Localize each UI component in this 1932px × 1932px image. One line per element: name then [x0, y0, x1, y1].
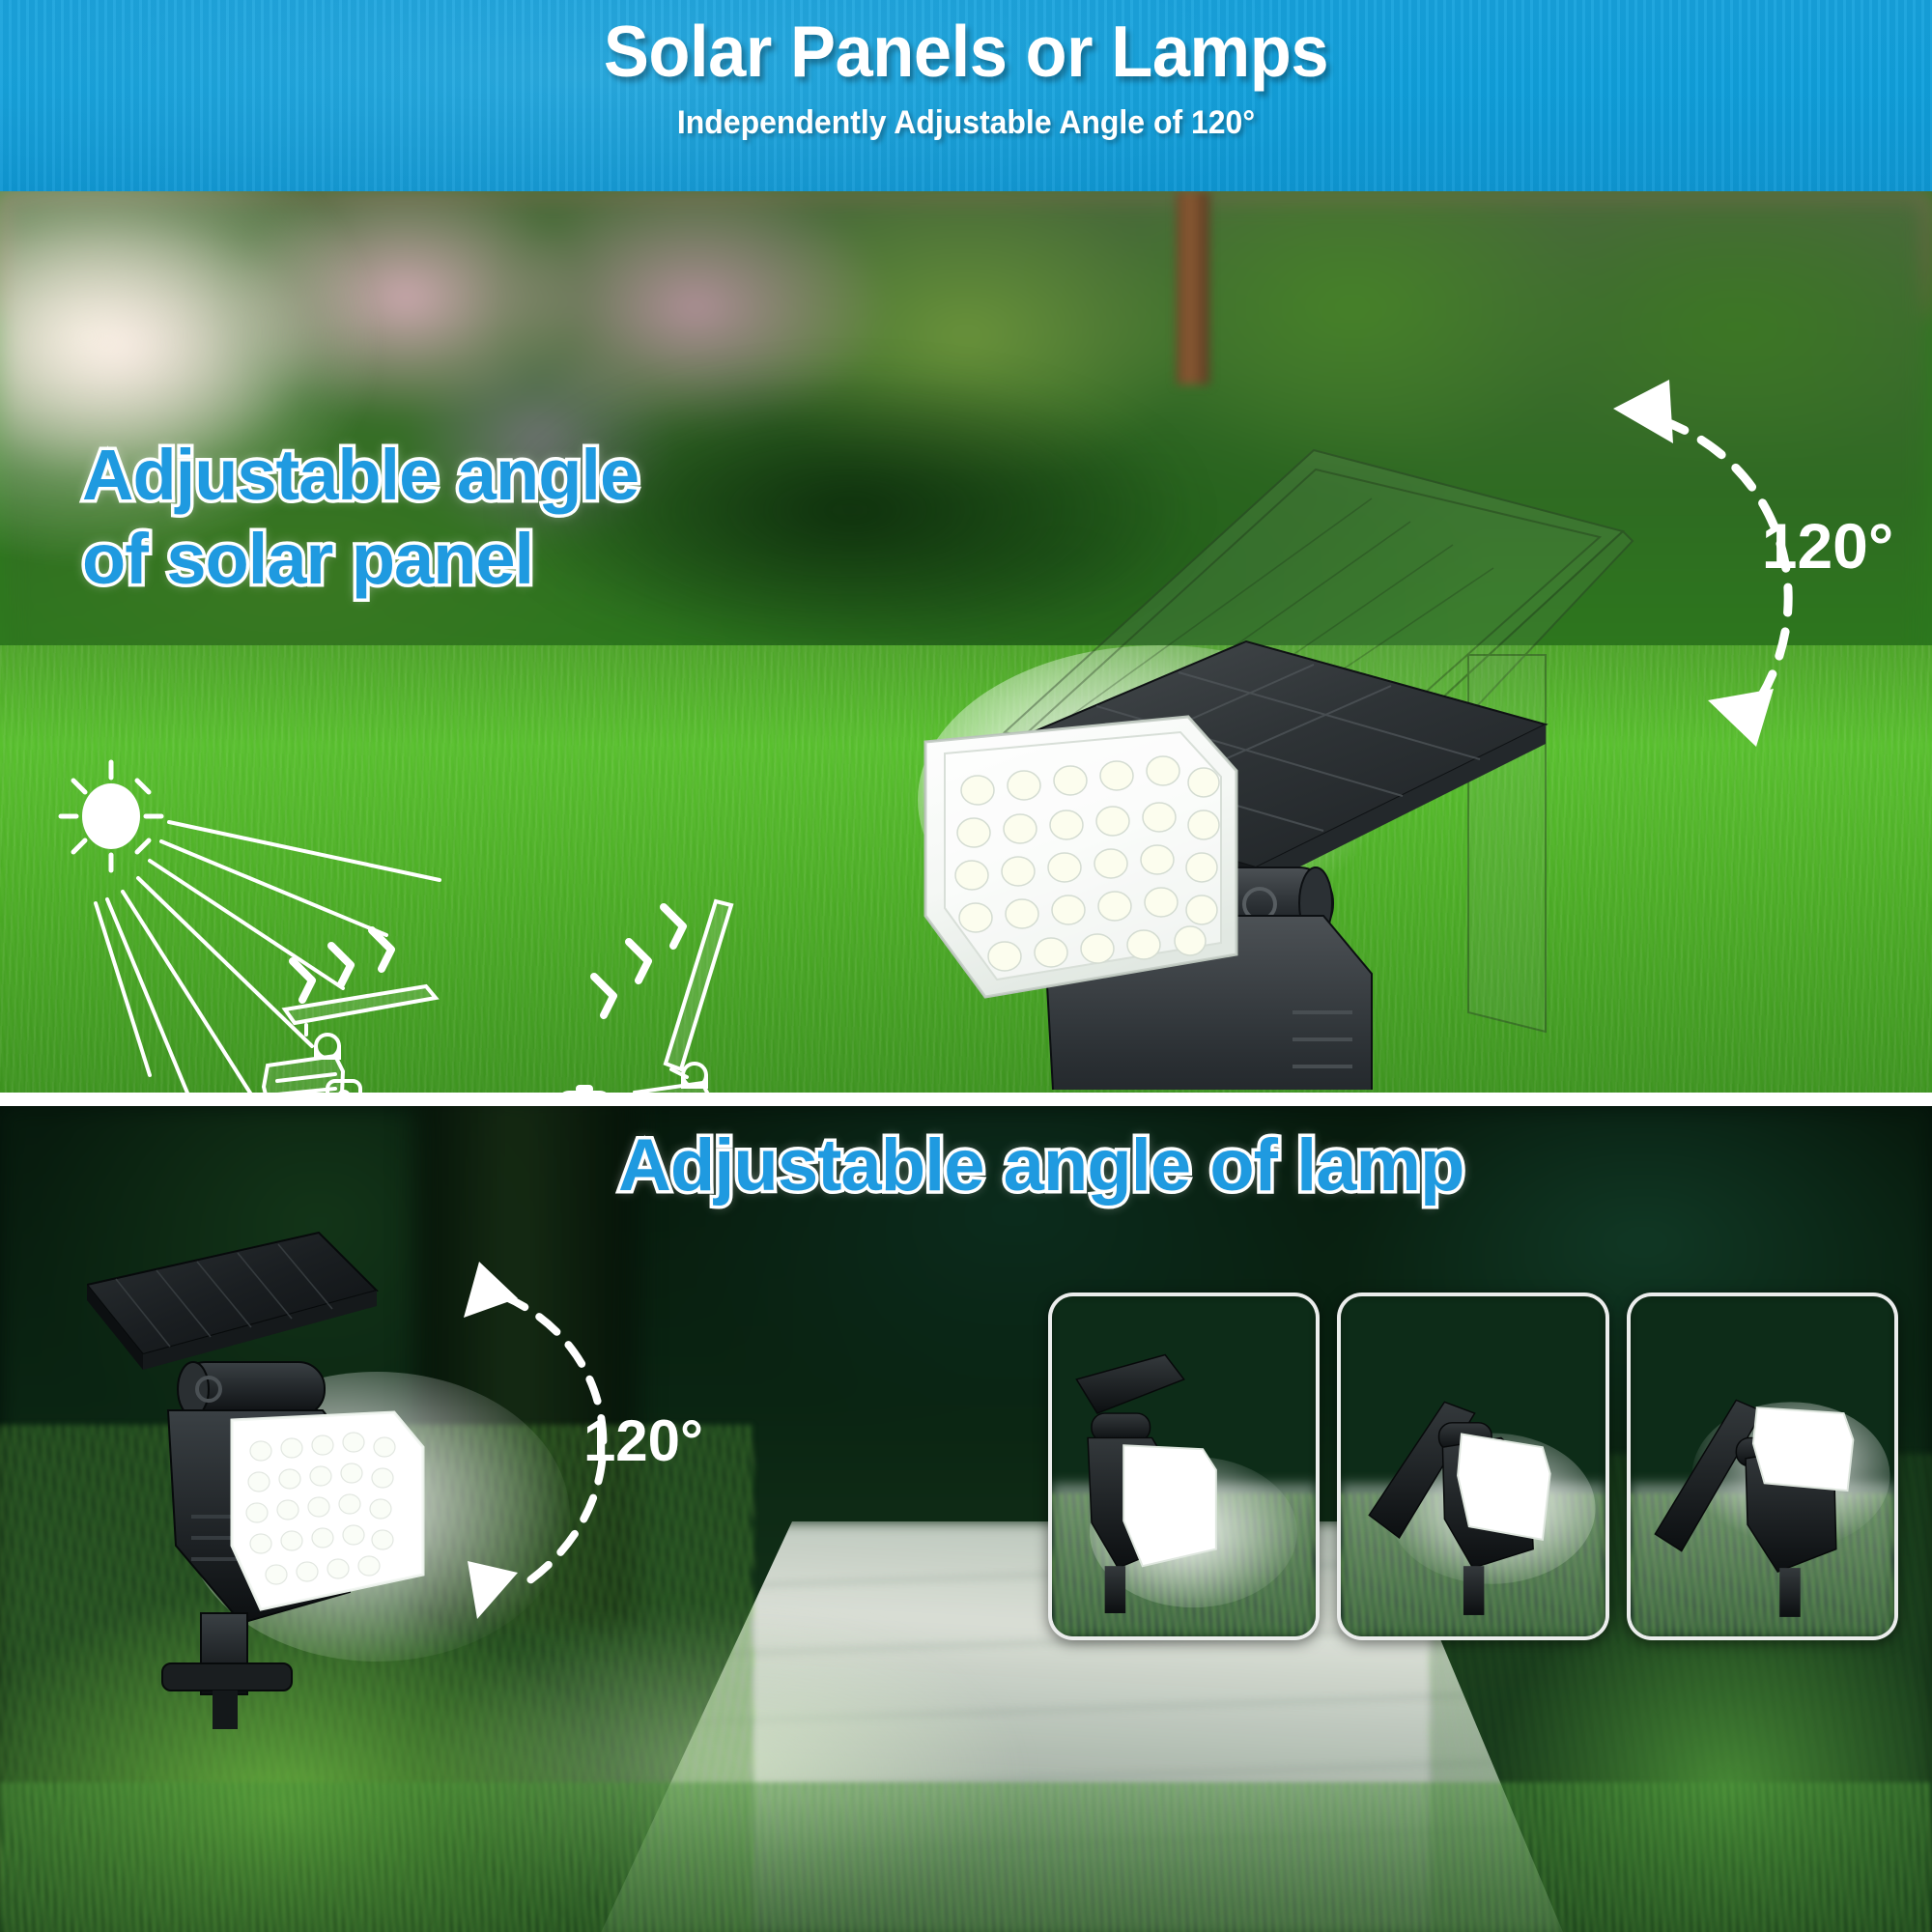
- lamp-panel-flat-icon: [264, 986, 436, 1096]
- led-lamp-head: [232, 1412, 423, 1609]
- subtitle-text: Independently Adjustable Angle of: [677, 104, 1191, 141]
- sun-icon: [61, 762, 161, 870]
- ground-stake: [1463, 1566, 1484, 1615]
- angle-label: 120°: [1762, 510, 1894, 582]
- charging-infographic: [53, 756, 903, 1096]
- arrow-head-bottom: [468, 1561, 518, 1619]
- background-wooden-post: [1177, 191, 1209, 384]
- arrow-head-bottom: [1708, 689, 1774, 747]
- solar-panel: [1076, 1355, 1183, 1414]
- ground-stake: [1105, 1566, 1125, 1613]
- lamp-angle-mid-illustration: [1341, 1296, 1605, 1635]
- section-one-heading: Adjustable angle of solar panel: [82, 433, 952, 602]
- subtitle-angle-value: 120°: [1191, 104, 1255, 141]
- heading-line-2: of solar panel: [82, 517, 952, 601]
- lamp-angle-down-illustration: [1052, 1296, 1316, 1635]
- product-feature-image: Solar Panels or Lamps Independently Adju…: [0, 0, 1932, 1932]
- thumbnail-lamp-angle-mid[interactable]: [1337, 1293, 1608, 1640]
- chevron-down-icon: [594, 907, 683, 1015]
- product-solar-spot-light: [869, 413, 1662, 1090]
- led-lamp-head: [1458, 1435, 1550, 1540]
- led-lamp-head: [1123, 1445, 1216, 1566]
- led-lamp-head: [925, 717, 1236, 997]
- hinge-joint: [178, 1362, 325, 1416]
- lamp-angle-up-illustration: [1631, 1296, 1894, 1635]
- angle-label: 120°: [583, 1408, 703, 1473]
- section-divider: [0, 1093, 1932, 1106]
- arrow-head-top: [464, 1262, 518, 1318]
- led-lamp-head: [1753, 1407, 1853, 1491]
- thumbnail-lamp-angle-down[interactable]: [1048, 1293, 1320, 1640]
- section-two-heading: Adjustable angle of lamp: [618, 1125, 1932, 1207]
- lamp-angle-thumbnail-row: [1048, 1293, 1898, 1640]
- section-solar-panel-angle: Adjustable angle of solar panel: [0, 191, 1932, 1096]
- heading-line-1: Adjustable angle: [82, 433, 952, 517]
- page-subtitle: Independently Adjustable Angle of 120°: [58, 104, 1874, 142]
- background-grass-foreground: [0, 1782, 1932, 1932]
- header-banner: Solar Panels or Lamps Independently Adju…: [0, 0, 1932, 191]
- angle-indicator-lamp: 120°: [454, 1246, 705, 1633]
- ground-stake: [1779, 1568, 1800, 1617]
- page-title: Solar Panels or Lamps: [58, 10, 1874, 93]
- thumbnail-lamp-angle-up[interactable]: [1627, 1293, 1898, 1640]
- solar-panel: [87, 1233, 377, 1370]
